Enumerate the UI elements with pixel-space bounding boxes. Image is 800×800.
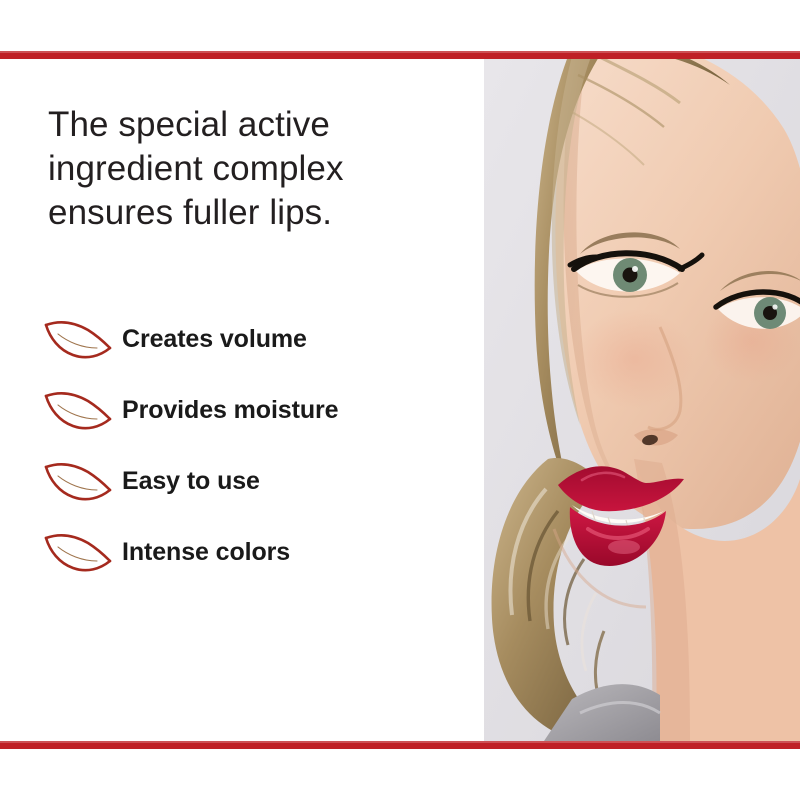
headline-line-3: ensures fuller lips. — [48, 191, 448, 235]
lip-leaf-icon — [44, 318, 112, 362]
copy-panel: The special active ingredient complex en… — [0, 59, 484, 741]
list-item: Easy to use — [44, 446, 474, 517]
list-item-label: Provides moisture — [122, 398, 338, 423]
feature-list: Creates volume Provides moisture — [44, 304, 474, 588]
list-item-label: Intense colors — [122, 540, 290, 565]
model-photo — [484, 59, 800, 741]
page-title: The special active ingredient complex en… — [48, 103, 448, 235]
lip-leaf-icon — [44, 389, 112, 433]
red-divider-bottom — [0, 741, 800, 749]
list-item-label: Creates volume — [122, 327, 307, 352]
red-divider-top — [0, 51, 800, 59]
lip-leaf-icon — [44, 460, 112, 504]
list-item: Intense colors — [44, 517, 474, 588]
headline-line-2: ingredient complex — [48, 147, 448, 191]
headline-line-1: The special active — [48, 103, 448, 147]
list-item-label: Easy to use — [122, 469, 260, 494]
list-item: Creates volume — [44, 304, 474, 375]
lip-leaf-icon — [44, 531, 112, 575]
list-item: Provides moisture — [44, 375, 474, 446]
promo-banner: The special active ingredient complex en… — [0, 0, 800, 800]
